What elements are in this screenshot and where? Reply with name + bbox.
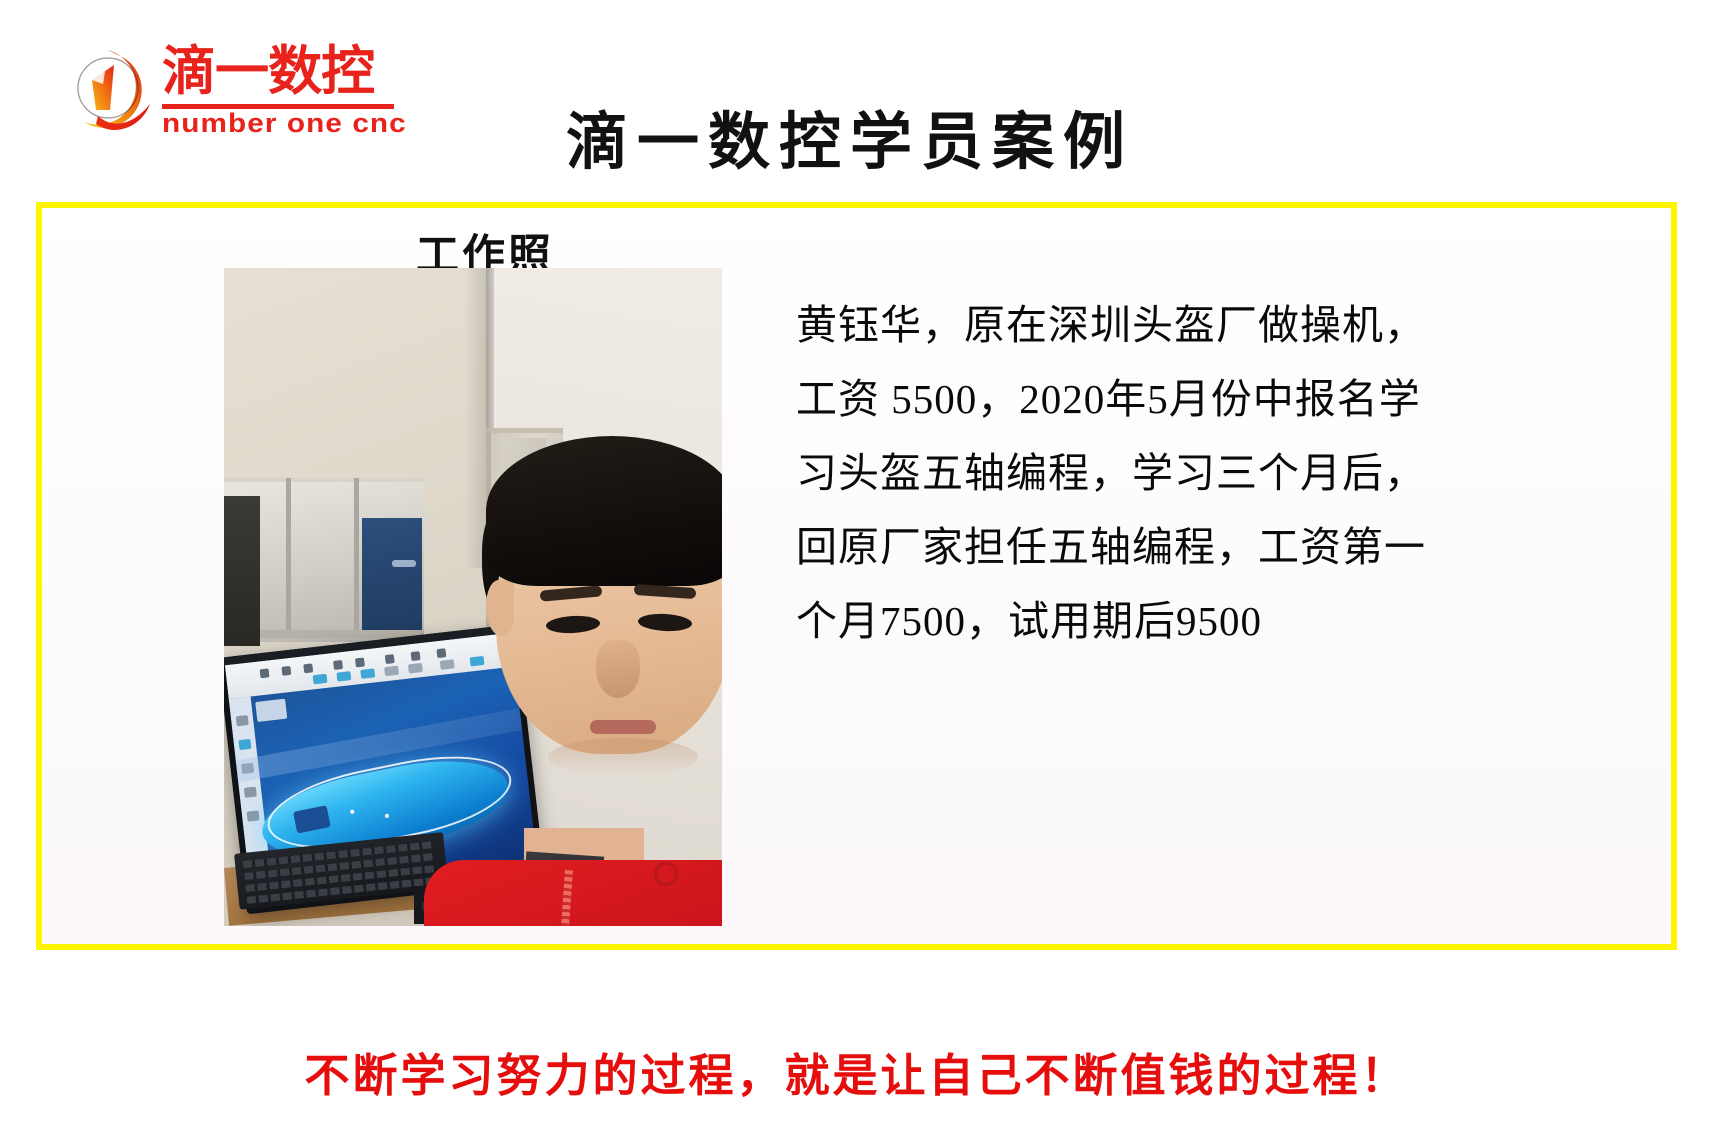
photo-jacket-button xyxy=(654,862,678,886)
photo-blue-door xyxy=(362,518,422,638)
brand-logo: 滴一数控 number one cnc xyxy=(62,42,392,142)
photo-dark-frame xyxy=(224,496,260,646)
photo-person-nose xyxy=(596,640,640,698)
number-one-swoosh-logo-icon xyxy=(62,44,154,136)
page-title: 滴一数控学员案例 xyxy=(430,108,1270,178)
photo-person-ear xyxy=(486,580,514,636)
photo-person-chin-shadow xyxy=(548,738,698,776)
photo-person-hair xyxy=(486,436,722,586)
work-photo xyxy=(224,268,722,926)
photo-window-mullion xyxy=(286,478,291,638)
case-description: 黄钰华，原在深圳头盔厂做操机，工资 5500，2020年5月份中报名学习头盔五轴… xyxy=(796,288,1452,658)
cad-panel xyxy=(255,699,287,722)
footer-slogan: 不断学习努力的过程，就是让自己不断值钱的过程！ xyxy=(0,1048,1713,1104)
brand-name-cn: 滴一数控 xyxy=(162,44,374,100)
photo-window-mullion xyxy=(354,478,359,638)
brand-name-en: number one cnc xyxy=(162,108,407,138)
photo-person-mouth xyxy=(590,720,656,734)
photo-door-handle xyxy=(392,560,416,567)
